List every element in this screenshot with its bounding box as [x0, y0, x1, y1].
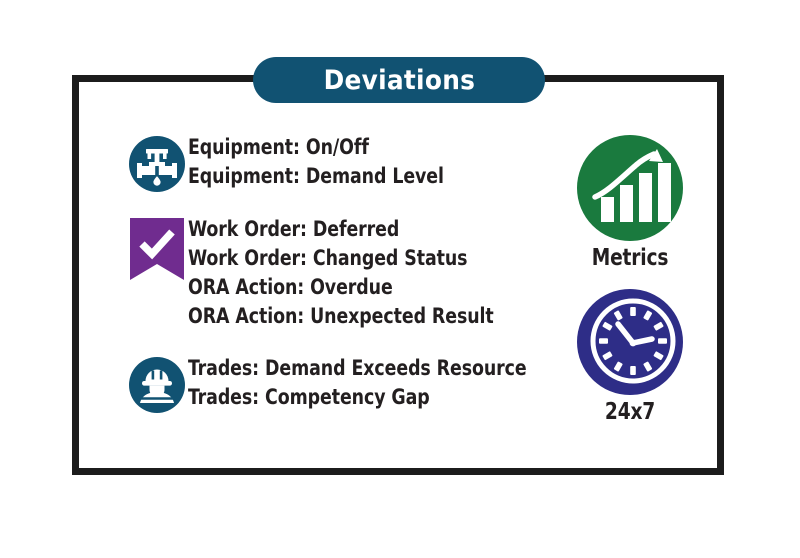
valve-pipe-icon — [129, 136, 185, 192]
bar-chart-growth-icon — [565, 135, 695, 241]
clock-icon — [565, 289, 695, 395]
deviation-line: ORA Action: Overdue — [188, 273, 510, 302]
deviation-groups: Equipment: On/Off Equipment: Demand Leve… — [126, 133, 546, 413]
deviation-group-work-order: Work Order: Deferred Work Order: Changed… — [126, 215, 546, 331]
deviation-line: Trades: Competency Gap — [188, 383, 527, 412]
deviation-group-equipment: Equipment: On/Off Equipment: Demand Leve… — [126, 133, 546, 192]
hard-hat-worker-icon — [129, 357, 185, 413]
page-title: Deviations — [323, 65, 475, 96]
group-lines: Work Order: Deferred Work Order: Changed… — [188, 215, 546, 331]
metrics-caption: Metrics — [572, 245, 689, 271]
deviation-line: Equipment: On/Off — [188, 133, 510, 162]
icon-slot — [126, 215, 188, 280]
deviation-line: Work Order: Deferred — [188, 215, 510, 244]
icon-slot — [126, 133, 188, 192]
right-item-24x7: 24x7 — [565, 289, 695, 425]
group-lines: Equipment: On/Off Equipment: Demand Leve… — [188, 133, 546, 191]
deviation-line: Trades: Demand Exceeds Resource — [188, 354, 527, 383]
clock-caption: 24x7 — [572, 399, 689, 425]
bookmark-check-icon — [130, 218, 184, 280]
group-lines: Trades: Demand Exceeds Resource Trades: … — [188, 354, 564, 412]
deviation-line: Equipment: Demand Level — [188, 162, 510, 191]
right-item-metrics: Metrics — [565, 135, 695, 271]
deviation-line: Work Order: Changed Status — [188, 244, 510, 273]
right-icon-column: Metrics — [565, 135, 695, 443]
diagram-title-pill: Deviations — [253, 57, 545, 103]
deviation-group-trades: Trades: Demand Exceeds Resource Trades: … — [126, 354, 546, 413]
icon-slot — [126, 354, 188, 413]
deviation-line: ORA Action: Unexpected Result — [188, 302, 510, 331]
diagram-canvas: Deviations — [0, 0, 800, 558]
